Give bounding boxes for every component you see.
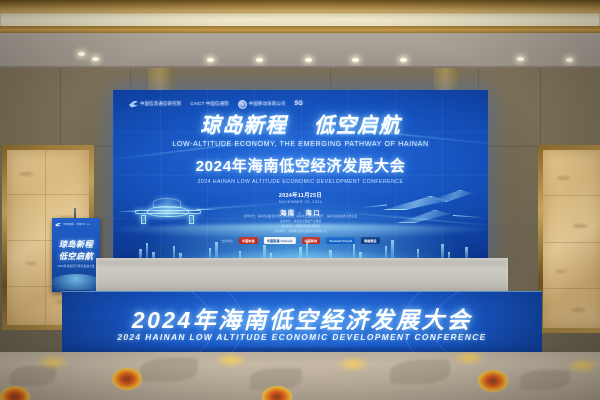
- stage-front-banner: 2024年海南低空经济发展大会 2024 HAINAN LOW ALTITUDE…: [62, 291, 542, 354]
- ceiling-downlight: [92, 57, 99, 61]
- ceiling-downlight: [566, 58, 573, 62]
- led-stage-screen: 中国信息通信研究院 CAICT 中国信通院 中国移动海南公司 5G 琼岛新程 低…: [113, 90, 488, 262]
- host-logo-mark: 中国信息通信研究院: [129, 101, 181, 108]
- ceiling-downlight: [78, 52, 85, 56]
- stage-banner-title-chinese: 2024年海南低空经济发展大会: [62, 301, 542, 335]
- rollup-headline-line1: 琼岛新程: [52, 238, 100, 250]
- conference-date-chinese: 2024年11月25日: [113, 191, 488, 199]
- ceiling-cove-light: [0, 13, 600, 27]
- led-logo-strip: 中国信息通信研究院 CAICT 中国信通院 中国移动海南公司 5G: [129, 98, 329, 110]
- conference-title-chinese: 2024年海南低空经济发展大会: [113, 154, 488, 176]
- carpet-flower-motif: [112, 368, 142, 390]
- headline-cn-left: 琼岛新程: [200, 114, 287, 137]
- conference-title-english: 2024 HAINAN LOW ALTITUDE ECONOMIC DEVELO…: [113, 179, 488, 185]
- ceiling-downlight: [400, 58, 407, 62]
- stage-platform: [96, 258, 508, 294]
- swoosh-icon: [129, 101, 138, 108]
- rollup-logo-strip: 中国信通院 · 中国移动 · 5G: [55, 222, 97, 227]
- conference-stage-photo: 中国信息通信研究院 CAICT 中国信通院 中国移动海南公司 5G 琼岛新程 低…: [0, 0, 600, 400]
- conference-date-english: NOVEMBER 25, 2024: [113, 200, 488, 204]
- rollup-logo-text: 中国信通院 · 中国移动 · 5G: [63, 223, 90, 226]
- rollup-banner: 中国信通院 · 中国移动 · 5G 琼岛新程 低空启航 2024年海南低空经济发…: [52, 218, 100, 292]
- ceiling-downlight: [207, 58, 214, 62]
- headline-chinese: 琼岛新程 低空启航: [113, 116, 488, 137]
- ceiling-downlight: [517, 57, 524, 61]
- rollup-subline: 2024年海南低空经济发展大会: [52, 264, 100, 268]
- host-logo-text: 中国信息通信研究院: [140, 102, 181, 106]
- partner-globe-logo: 中国移动海南公司: [238, 100, 286, 109]
- fiveg-logo: 5G: [295, 101, 303, 107]
- rollup-headline-line2: 低空启航: [52, 250, 100, 262]
- ceiling-downlight: [256, 58, 263, 62]
- led-text-block: 琼岛新程 低空启航 LOW-ALTITUDE ECONOMY, THE EMER…: [113, 116, 488, 217]
- wall-panel-right: [538, 145, 600, 333]
- ceiling-downlight: [352, 58, 359, 62]
- carpet-flower-motif: [478, 370, 508, 392]
- carpet-flower-motif: [0, 386, 30, 400]
- globe-icon: [238, 100, 247, 109]
- headline-cn-right: 低空启航: [314, 114, 401, 137]
- caict-logo: CAICT 中国信通院: [190, 102, 228, 106]
- ceiling-soffit: [0, 33, 600, 67]
- headline-english: LOW-ALTITUDE ECONOMY, THE EMERGING PATHW…: [113, 140, 488, 148]
- ceiling-downlight: [305, 58, 312, 62]
- swoosh-icon: [55, 223, 61, 227]
- partner-logo-text: 中国移动海南公司: [249, 102, 286, 106]
- stage-banner-title-english: 2024 HAINAN LOW ALTITUDE ECONOMIC DEVELO…: [62, 332, 542, 342]
- ballroom-carpet: [0, 352, 600, 400]
